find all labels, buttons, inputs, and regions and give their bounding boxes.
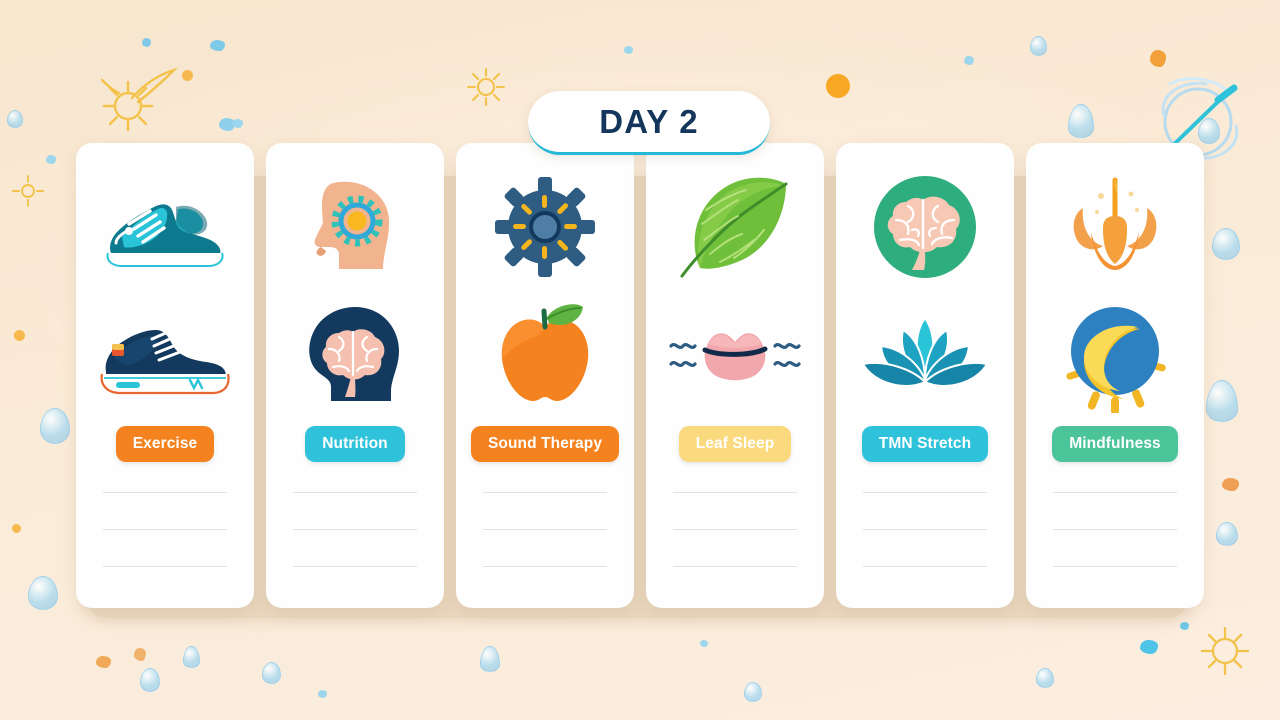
green-leaf-icon [676, 167, 794, 287]
chip-exercise[interactable]: Exercise [116, 426, 215, 462]
note-line [673, 492, 798, 493]
note-line [673, 529, 798, 530]
day-badge: DAY 2 [528, 91, 770, 155]
routine-card-mindfulness[interactable]: Mindfulness [1026, 143, 1204, 608]
head-with-brain-icon [295, 293, 415, 413]
brain-circle-icon [870, 167, 980, 287]
routine-card-tmn-stretch[interactable]: TMN Stretch [836, 143, 1014, 608]
note-line [1053, 566, 1178, 567]
chip-sound-therapy[interactable]: Sound Therapy [471, 426, 619, 462]
icon-stack [646, 167, 824, 422]
orange-apple-icon [491, 293, 599, 413]
orange-crescent-bowl-icon [1061, 167, 1169, 287]
note-line [103, 529, 228, 530]
card-note-lines [456, 492, 634, 567]
note-line [483, 566, 608, 567]
note-line [293, 492, 418, 493]
icon-stack [1026, 167, 1204, 422]
note-line [1053, 492, 1178, 493]
chip-leaf-sleep[interactable]: Leaf Sleep [679, 426, 792, 462]
note-line [483, 492, 608, 493]
note-line [863, 566, 988, 567]
routine-card-row: Exercise [76, 143, 1204, 608]
icon-stack [456, 167, 634, 422]
note-line [863, 492, 988, 493]
lips-sound-waves-icon [667, 293, 803, 413]
note-line [103, 492, 228, 493]
card-note-lines [646, 492, 824, 567]
chip-mindfulness[interactable]: Mindfulness [1052, 426, 1178, 462]
head-with-gear-icon [299, 167, 411, 287]
lotus-flower-icon [859, 293, 991, 413]
card-note-lines [836, 492, 1014, 567]
chip-nutrition[interactable]: Nutrition [305, 426, 404, 462]
moon-sun-icon [1052, 293, 1178, 413]
routine-card-nutrition[interactable]: Nutrition [266, 143, 444, 608]
day-badge-label: DAY 2 [599, 103, 699, 141]
chip-tmn-stretch[interactable]: TMN Stretch [862, 426, 988, 462]
note-line [483, 529, 608, 530]
gear-icon [493, 167, 597, 287]
icon-stack [836, 167, 1014, 422]
card-note-lines [266, 492, 444, 567]
note-line [863, 529, 988, 530]
note-line [673, 566, 798, 567]
icon-stack [76, 167, 254, 422]
card-note-lines [76, 492, 254, 567]
note-line [1053, 529, 1178, 530]
note-line [293, 566, 418, 567]
note-line [103, 566, 228, 567]
teal-sneaker-icon [98, 167, 232, 287]
note-line [293, 529, 418, 530]
card-note-lines [1026, 492, 1204, 567]
routine-card-sound-therapy[interactable]: Sound Therapy [456, 143, 634, 608]
navy-sneaker-icon [94, 293, 236, 413]
routine-card-leaf-sleep[interactable]: Leaf Sleep [646, 143, 824, 608]
routine-card-exercise[interactable]: Exercise [76, 143, 254, 608]
icon-stack [266, 167, 444, 422]
